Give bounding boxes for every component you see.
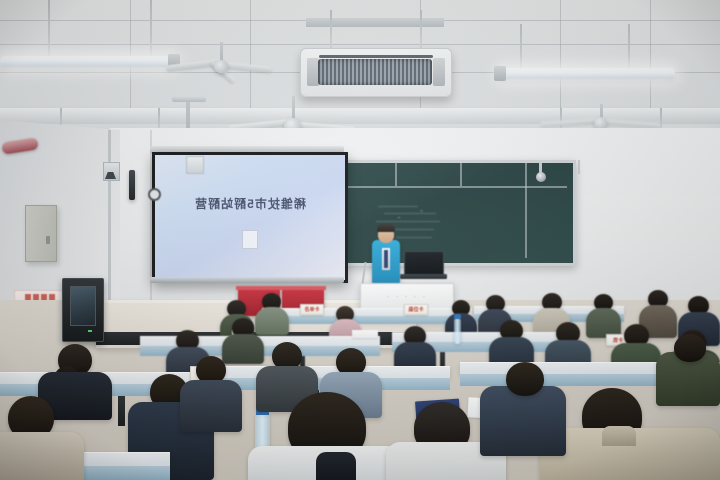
lectern-sign-text: · · · · · bbox=[361, 292, 453, 301]
panel-latch[interactable] bbox=[46, 236, 50, 244]
audience-torso bbox=[480, 386, 566, 456]
ac-inlet bbox=[319, 55, 433, 58]
ac-rod bbox=[330, 10, 332, 50]
screen-bottom-bar bbox=[150, 277, 344, 283]
light-rod bbox=[150, 0, 152, 58]
suspended-fluorescent-tube bbox=[500, 68, 675, 79]
ceiling-fan bbox=[214, 60, 228, 73]
projection-screen: 稀雏扙市5酹站酹营 bbox=[155, 155, 345, 280]
hood-collar bbox=[602, 426, 636, 446]
desk-front-panel bbox=[262, 316, 472, 324]
light-rod bbox=[628, 24, 630, 72]
ceiling-cable bbox=[578, 160, 580, 174]
suspended-fluorescent-tube bbox=[0, 56, 175, 67]
ac-rod bbox=[420, 10, 422, 50]
blackboard-divider bbox=[525, 163, 527, 258]
wall-clock bbox=[148, 188, 161, 201]
paper-sheet bbox=[352, 330, 378, 338]
wall-electrical-panel[interactable] bbox=[25, 205, 57, 262]
desk-placard: 名单卡 bbox=[300, 304, 324, 315]
ceiling-seam bbox=[560, 0, 561, 108]
presenter-hair bbox=[377, 224, 395, 232]
light-rod bbox=[520, 24, 522, 72]
ceiling-seam bbox=[250, 0, 251, 110]
bottle-cap bbox=[454, 314, 461, 319]
blackboard-divider bbox=[395, 163, 397, 186]
ac-vane bbox=[433, 58, 445, 86]
projection-screen-frame: 稀雏扙市5酹站酹营 bbox=[152, 152, 348, 283]
audience-head bbox=[674, 334, 706, 362]
ceiling-seam bbox=[130, 0, 131, 108]
water-bottle bbox=[454, 318, 461, 344]
screen-corner-sticker bbox=[186, 156, 204, 174]
blackboard-divider bbox=[333, 186, 567, 188]
rack-status-led bbox=[88, 330, 92, 332]
wall-camera bbox=[536, 172, 546, 182]
ac-grill bbox=[318, 59, 432, 85]
presenter-tie bbox=[384, 250, 388, 268]
desk-leg bbox=[118, 396, 125, 426]
projector-mount bbox=[172, 96, 206, 102]
desk-placard: 座位卡 bbox=[404, 304, 428, 315]
collar bbox=[316, 452, 356, 480]
audience-torso bbox=[0, 432, 84, 480]
lecture-hall-photo: 稀雏扙市5酹站酹营 · · · · · bbox=[0, 0, 720, 480]
audience-head bbox=[506, 362, 544, 396]
blackboard-divider bbox=[460, 163, 462, 186]
slide-center-mark bbox=[242, 230, 258, 249]
light-rod bbox=[48, 0, 50, 58]
ac-mount-plate bbox=[306, 18, 444, 27]
rack-glass-door bbox=[70, 286, 96, 326]
slide-title: 稀雏扙市5酹站酹营 bbox=[155, 195, 345, 212]
wall-corner-edge bbox=[108, 130, 111, 315]
audience-torso bbox=[222, 334, 264, 364]
ceiling-seam bbox=[650, 0, 651, 108]
laptop-keyboard bbox=[400, 274, 447, 279]
audience-torso bbox=[255, 307, 289, 335]
ceiling-seam bbox=[0, 44, 720, 45]
audience-torso bbox=[180, 380, 242, 432]
light-end-cap bbox=[494, 66, 506, 81]
wall-speaker bbox=[129, 170, 135, 200]
sofa-top-edge bbox=[236, 286, 326, 290]
